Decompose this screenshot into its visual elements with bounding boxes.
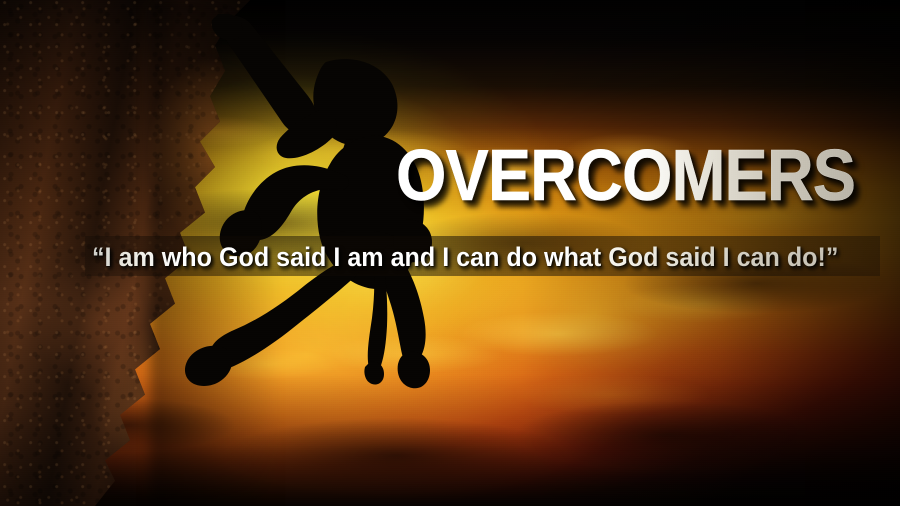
- film-grain-overlay: [0, 0, 900, 506]
- slide-canvas: OVERCOMERS “I am who God said I am and I…: [0, 0, 900, 506]
